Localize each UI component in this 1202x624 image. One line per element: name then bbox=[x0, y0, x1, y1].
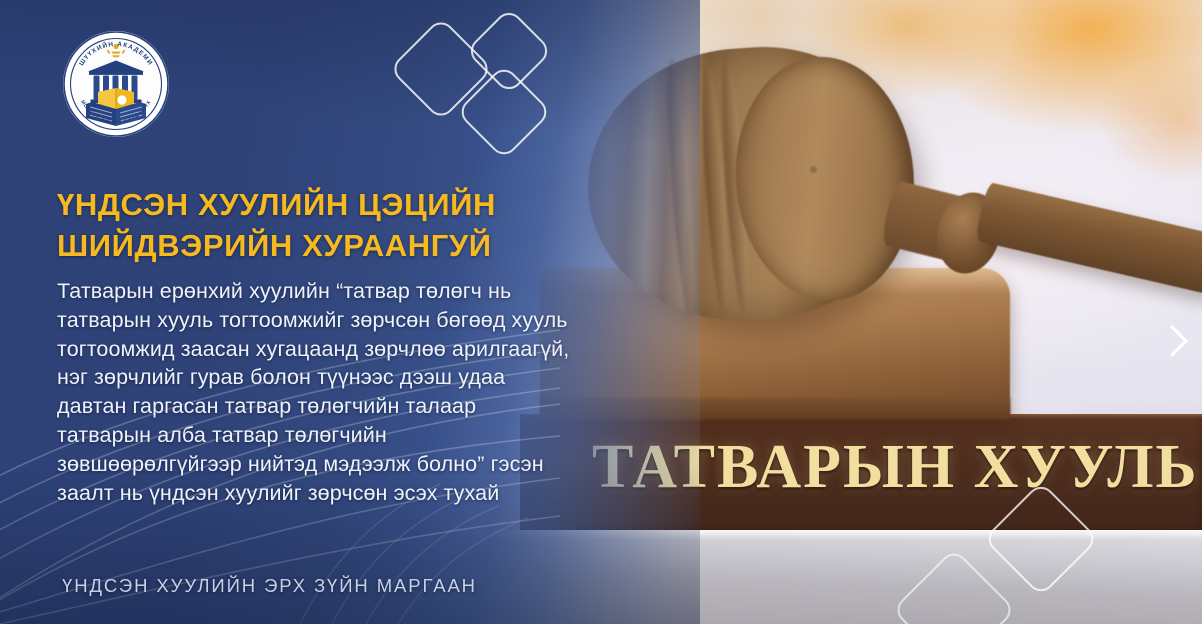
summary-body-text: Татварын ерөнхий хуулийн “татвар төлөгч … bbox=[57, 277, 572, 507]
headline-line-1: ҮНДСЭН ХУУЛИЙН ЦЭЦИЙН bbox=[57, 187, 496, 222]
slide-canvas: ТАТВАРЫН ХУУЛЬ bbox=[0, 0, 1202, 624]
headline-line-2: ШИЙДВЭРИЙН ХУРААНГУЙ bbox=[57, 225, 577, 266]
page-title: ҮНДСЭН ХУУЛИЙН ЦЭЦИЙН ШИЙДВЭРИЙН ХУРААНГ… bbox=[57, 184, 577, 266]
avatar: ШҮҮХИЙН АКАДЕМИ МОНГОЛ УЛСЫН ДЭЭД ШҮҮХ bbox=[62, 30, 170, 138]
next-slide-button[interactable] bbox=[1166, 324, 1192, 358]
footer-caption: ҮНДСЭН ХУУЛИЙН ЭРХ ЗҮЙН МАРГААН bbox=[62, 575, 477, 597]
shuukhiin-akademi-emblem-icon: ШҮҮХИЙН АКАДЕМИ МОНГОЛ УЛСЫН ДЭЭД ШҮҮХ bbox=[62, 30, 170, 138]
chevron-right-icon[interactable] bbox=[1166, 324, 1192, 358]
